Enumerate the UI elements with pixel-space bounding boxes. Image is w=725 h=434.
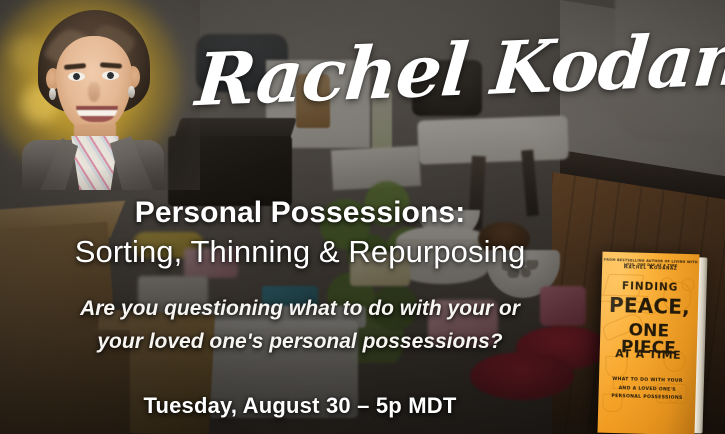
subhead-line-1: Are you questioning what to do with your… bbox=[0, 297, 600, 321]
earring-right bbox=[128, 86, 135, 98]
headline-line-2: Sorting, Thinning & Repurposing bbox=[0, 234, 600, 270]
book-title-line-2: PEACE, bbox=[601, 296, 698, 318]
speaker-name-wordmark: Rachel Kodanaz bbox=[192, 8, 720, 132]
promo-banner: Rachel Kodanaz Personal Possessions: Sor… bbox=[0, 0, 725, 434]
book-cover-thumbnail[interactable]: FROM BESTSELLING AUTHOR OF LIVING WITH L… bbox=[597, 252, 702, 434]
speaker-portrait bbox=[0, 0, 200, 190]
event-datetime: Tuesday, August 30 – 5p MDT bbox=[0, 393, 600, 419]
book-title-line-4: AT A TIME bbox=[600, 347, 697, 363]
eye-left bbox=[68, 72, 85, 81]
subhead-line-2: your loved one's personal possessions? bbox=[0, 330, 600, 354]
headshot-image bbox=[16, 6, 166, 190]
eye-right bbox=[102, 71, 119, 80]
earring-left bbox=[49, 88, 56, 100]
book-front-cover: FROM BESTSELLING AUTHOR OF LIVING WITH L… bbox=[597, 252, 699, 434]
headline-line-1: Personal Possessions: bbox=[0, 196, 600, 230]
nose bbox=[88, 82, 100, 102]
book-subtitle: WHAT TO DO WITH YOUR AND A LOVED ONE'S P… bbox=[598, 376, 696, 405]
